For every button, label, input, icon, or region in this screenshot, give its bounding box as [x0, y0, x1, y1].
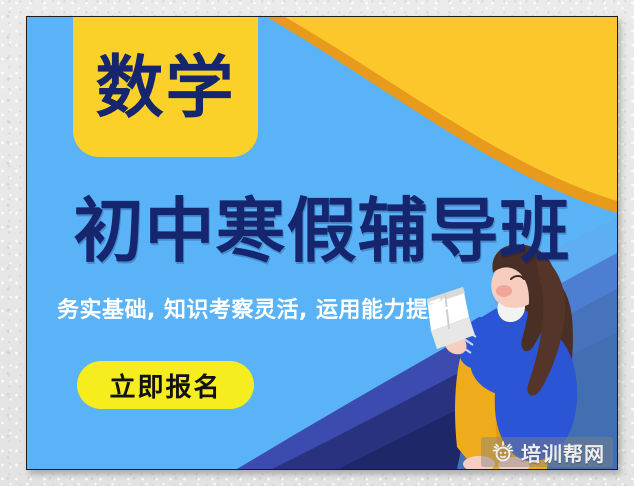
page-background: 数学 初中寒假辅导班 务实基础, 知识考察灵活, 运用能力提升 立即报名 [0, 0, 634, 486]
watermark: 培训帮网 [481, 437, 613, 467]
course-promo-banner: 数学 初中寒假辅导班 务实基础, 知识考察灵活, 运用能力提升 立即报名 [26, 16, 618, 470]
woman-figure [427, 244, 577, 469]
watermark-text: 培训帮网 [521, 438, 605, 467]
page-title: 初中寒假辅导班 [27, 185, 617, 277]
enroll-now-button[interactable]: 立即报名 [77, 361, 254, 409]
subject-chip: 数学 [73, 17, 258, 157]
sunburst-face-icon [491, 440, 515, 464]
cheek-blush-shape [496, 285, 512, 297]
subject-chip-label: 数学 [95, 55, 235, 123]
subtitle-text: 务实基础, 知识考察灵活, 运用能力提升 [39, 295, 469, 327]
enroll-now-button-label: 立即报名 [109, 367, 221, 404]
